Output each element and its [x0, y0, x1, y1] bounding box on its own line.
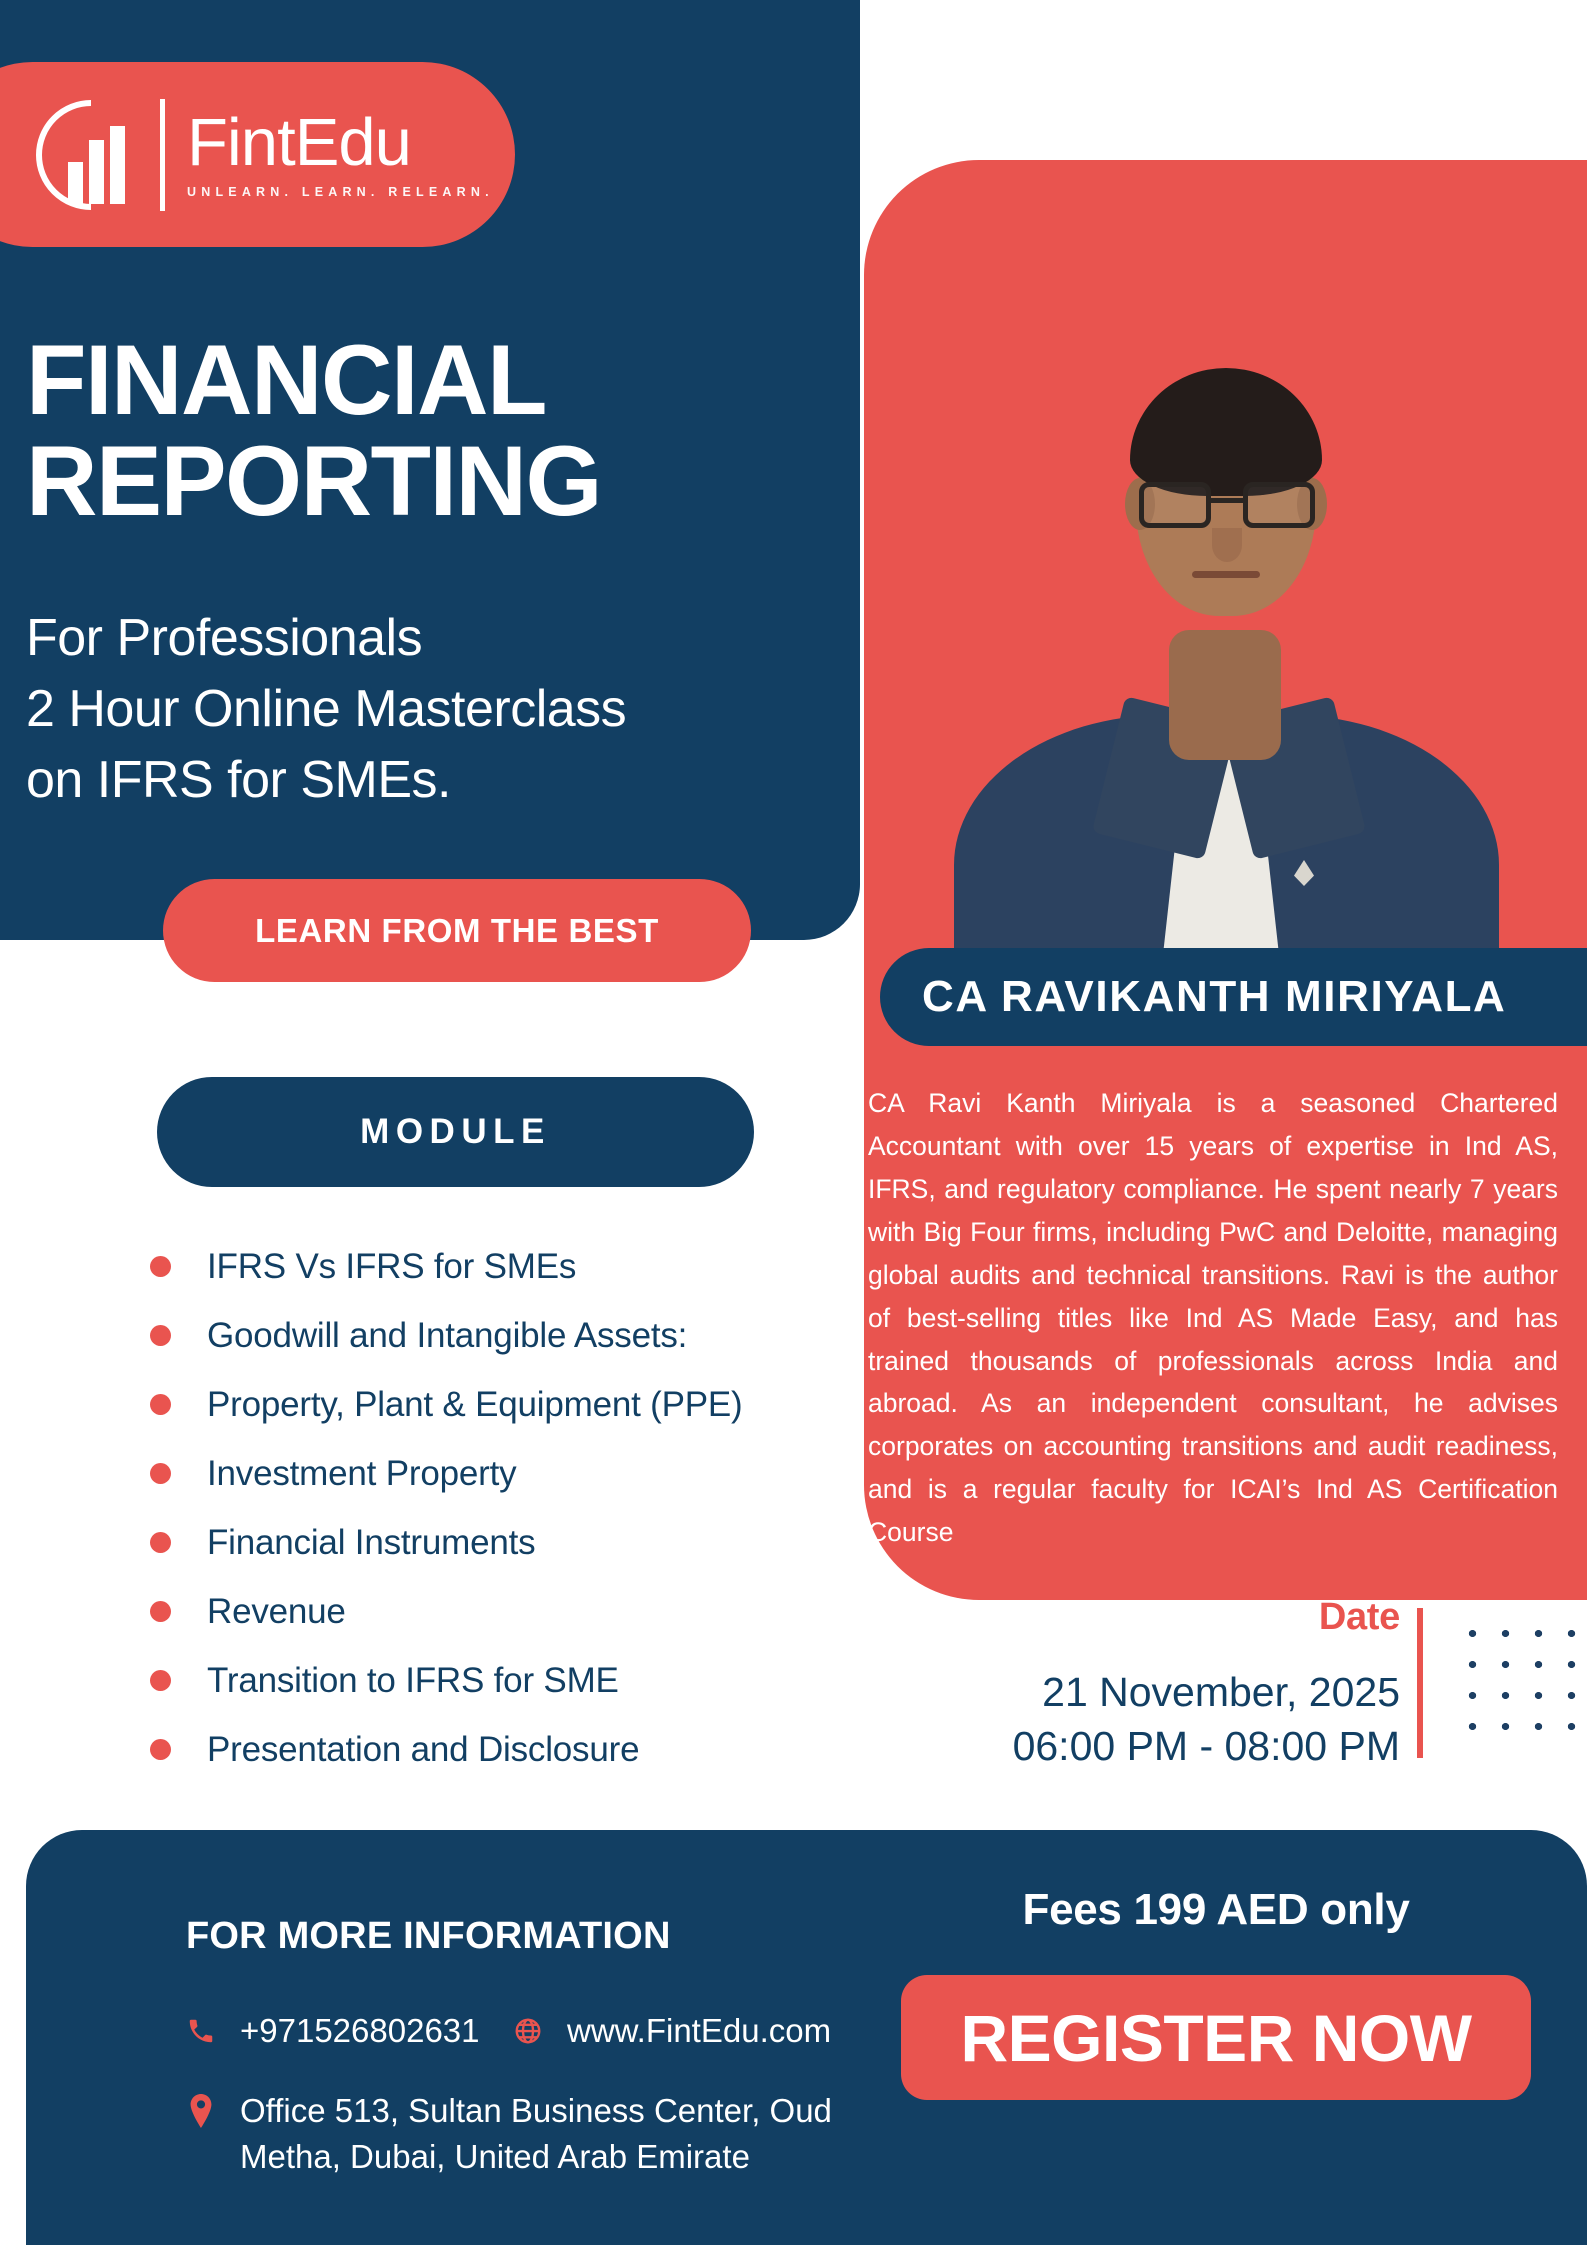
- poster-root: FintEdu UNLEARN. LEARN. RELEARN. FINANCI…: [0, 0, 1587, 2245]
- dot-grid-decoration: [1452, 1614, 1587, 1754]
- brand-tagline: UNLEARN. LEARN. RELEARN.: [187, 185, 494, 199]
- speaker-portrait: [864, 160, 1587, 970]
- bullet-icon: [150, 1463, 171, 1484]
- circular-bar-chart-icon: [32, 96, 150, 214]
- list-item: Goodwill and Intangible Assets:: [150, 1301, 840, 1370]
- subtitle-line-1: For Professionals: [26, 603, 826, 674]
- portrait-nose: [1212, 528, 1242, 562]
- portrait-hair: [1130, 368, 1322, 496]
- date-value: 21 November, 2025 06:00 PM - 08:00 PM: [880, 1665, 1400, 1773]
- portrait-glasses: [1137, 482, 1317, 530]
- module-list: IFRS Vs IFRS for SMEs Goodwill and Intan…: [150, 1232, 840, 1784]
- list-item: Presentation and Disclosure: [150, 1715, 840, 1784]
- fees-label: Fees 199 AED only: [880, 1885, 1552, 1935]
- list-item-label: IFRS Vs IFRS for SMEs: [207, 1247, 576, 1287]
- website-url: www.FintEdu.com: [567, 2008, 831, 2054]
- title-line-1: FINANCIAL: [26, 330, 826, 431]
- subtitle-line-3: on IFRS for SMEs.: [26, 745, 826, 816]
- list-item-label: Property, Plant & Equipment (PPE): [207, 1385, 743, 1425]
- event-date-block: Date 21 November, 2025 06:00 PM - 08:00 …: [880, 1596, 1400, 1773]
- list-item: Revenue: [150, 1577, 840, 1646]
- event-time: 06:00 PM - 08:00 PM: [880, 1719, 1400, 1773]
- bullet-icon: [150, 1325, 171, 1346]
- page-title: FINANCIAL REPORTING: [26, 330, 826, 532]
- list-item: IFRS Vs IFRS for SMEs: [150, 1232, 840, 1301]
- phone-number: +971526802631: [240, 2008, 480, 2054]
- footer-title: FOR MORE INFORMATION: [186, 1915, 671, 1958]
- logo-divider: [160, 99, 165, 211]
- bullet-icon: [150, 1739, 171, 1760]
- bullet-icon: [150, 1256, 171, 1277]
- brand-name: FintEdu: [187, 110, 494, 176]
- subtitle-line-2: 2 Hour Online Masterclass: [26, 674, 826, 745]
- glasses-lens-left: [1139, 482, 1211, 528]
- address-text: Office 513, Sultan Business Center, Oud …: [240, 2088, 880, 2179]
- bullet-icon: [150, 1670, 171, 1691]
- bullet-icon: [150, 1601, 171, 1622]
- location-pin-icon: [184, 2094, 218, 2128]
- portrait-neck: [1169, 630, 1281, 760]
- date-divider: [1417, 1608, 1423, 1758]
- list-item: Financial Instruments: [150, 1508, 840, 1577]
- globe-icon: [511, 2016, 545, 2046]
- glasses-lens-right: [1243, 482, 1315, 528]
- list-item: Investment Property: [150, 1439, 840, 1508]
- page-subtitle: For Professionals 2 Hour Online Mastercl…: [26, 603, 826, 817]
- portrait-mouth: [1192, 571, 1260, 578]
- list-item: Property, Plant & Equipment (PPE): [150, 1370, 840, 1439]
- contact-phone[interactable]: +971526802631: [184, 2008, 480, 2054]
- list-item-label: Financial Instruments: [207, 1523, 535, 1563]
- brand-logo: FintEdu UNLEARN. LEARN. RELEARN.: [0, 62, 515, 247]
- bullet-icon: [150, 1532, 171, 1553]
- list-item-label: Presentation and Disclosure: [207, 1730, 639, 1770]
- list-item: Transition to IFRS for SME: [150, 1646, 840, 1715]
- learn-from-the-best-badge: LEARN FROM THE BEST: [163, 879, 751, 982]
- list-item-label: Goodwill and Intangible Assets:: [207, 1316, 687, 1356]
- bullet-icon: [150, 1394, 171, 1415]
- phone-icon: [184, 2016, 218, 2046]
- register-now-button[interactable]: REGISTER NOW: [901, 1975, 1531, 2100]
- title-line-2: REPORTING: [26, 431, 826, 532]
- module-heading: MODULE: [157, 1077, 754, 1187]
- event-date: 21 November, 2025: [880, 1665, 1400, 1719]
- list-item-label: Investment Property: [207, 1454, 516, 1494]
- contact-address: Office 513, Sultan Business Center, Oud …: [184, 2088, 880, 2179]
- list-item-label: Revenue: [207, 1592, 346, 1632]
- speaker-name: CA RAVIKANTH MIRIYALA: [880, 948, 1587, 1046]
- speaker-bio: CA Ravi Kanth Miriyala is a seasoned Cha…: [868, 1082, 1558, 1554]
- glasses-bridge: [1211, 498, 1243, 503]
- contact-website[interactable]: www.FintEdu.com: [511, 2008, 831, 2054]
- list-item-label: Transition to IFRS for SME: [207, 1661, 619, 1701]
- date-label: Date: [880, 1596, 1400, 1639]
